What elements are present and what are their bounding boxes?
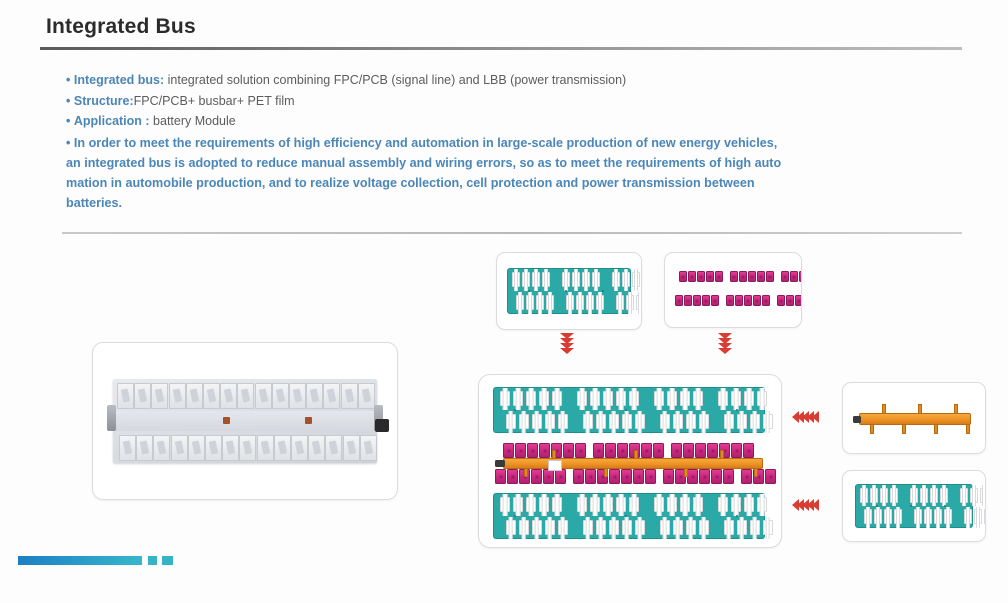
photo-contact-slot <box>241 388 251 402</box>
photo-terminal-left <box>107 405 116 431</box>
busbar-cell <box>645 469 656 484</box>
assembly-busbar-lbb-layer <box>489 443 775 485</box>
lbb-fin <box>934 424 938 434</box>
photo-contact-slot <box>172 388 182 402</box>
lbb-power-busbar-thumbnail <box>842 382 986 454</box>
fpc-contact-tab <box>864 509 872 524</box>
photo-contact-slot <box>243 440 253 454</box>
photo-cell-row-top <box>117 383 373 407</box>
fpc-contact-tab <box>545 414 555 430</box>
fpc-contact-tab <box>934 509 942 524</box>
busbar-cell <box>563 443 574 458</box>
fpc-contact-tab <box>910 488 918 503</box>
busbar-cell <box>641 443 652 458</box>
photo-contact-slot <box>157 440 167 454</box>
fpc-contact-tab <box>686 520 696 536</box>
photo-contact-slot <box>276 388 286 402</box>
photo-contact-slot <box>121 388 131 402</box>
title-underline <box>40 47 962 50</box>
busbar-cell <box>711 295 719 306</box>
busbar-cell <box>531 469 542 484</box>
photo-contact-cell <box>341 383 358 409</box>
fpc-tab-row-top <box>856 488 972 503</box>
fpc-contact-tab <box>693 391 703 407</box>
photo-contact-cell <box>186 383 203 409</box>
lbb-fin <box>552 450 556 459</box>
fpc-contact-tab <box>660 520 670 536</box>
photo-contact-cell <box>358 383 375 409</box>
arrow-down-icon <box>560 333 574 353</box>
fpc-board-graphic <box>507 268 631 314</box>
assembly-fpc-layer-top <box>493 387 765 433</box>
bullet-marker: • <box>66 73 70 87</box>
photo-contact-cell <box>360 435 377 461</box>
photo-contact-slot <box>327 388 337 402</box>
busbar-cell <box>617 443 628 458</box>
fpc-contact-tab <box>737 414 747 430</box>
photo-contact-slot <box>362 388 372 402</box>
fpc-contact-tab <box>513 391 523 407</box>
busbar-cell <box>744 295 752 306</box>
photo-contact-slot <box>344 388 354 402</box>
busbar-cell <box>757 271 765 282</box>
fpc-contact-tab <box>731 497 741 513</box>
photo-contact-cell <box>134 383 151 409</box>
description-paragraph: • In order to meet the requirements of h… <box>66 133 974 213</box>
fpc-tab-row-bottom <box>508 295 630 311</box>
fpc-contact-tab <box>970 488 978 503</box>
arrow-left-icon <box>792 411 817 423</box>
lbb-fin <box>882 404 886 414</box>
fpc-tab-row-bottom <box>856 509 972 524</box>
bullet-marker: • <box>66 94 70 108</box>
fpc-contact-tab <box>539 497 549 513</box>
fpc-contact-tab <box>500 391 510 407</box>
photo-contact-cell <box>323 383 340 409</box>
fpc-contact-tab <box>532 520 542 536</box>
integrated-bus-product-photo <box>92 342 398 500</box>
photo-contact-slot <box>310 388 320 402</box>
fpc-contact-tab <box>572 272 580 288</box>
fpc-contact-tab <box>763 414 773 430</box>
fpc-contact-tab <box>673 414 683 430</box>
busbar-gap <box>567 469 572 484</box>
busbar-cell <box>790 271 798 282</box>
busbar-cell <box>795 295 802 306</box>
fpc-solder-dot <box>736 515 738 517</box>
photo-contact-slot <box>329 440 339 454</box>
busbar-gap <box>587 443 592 458</box>
busbar-cell <box>515 443 526 458</box>
busbar-cell <box>653 443 664 458</box>
busbar-gap <box>720 295 725 306</box>
busbar-cell <box>687 469 698 484</box>
photo-contact-cell <box>257 435 274 461</box>
photo-board-midsection <box>113 411 377 431</box>
fpc-contact-tab <box>699 414 709 430</box>
photo-contact-cell <box>237 383 254 409</box>
paragraph-line: batteries. <box>66 193 974 213</box>
photo-cell-row-bottom <box>117 435 373 459</box>
photo-contact-slot <box>258 388 268 402</box>
photo-contact-cell <box>169 383 186 409</box>
fpc-contact-tab <box>582 272 590 288</box>
bullet-marker: • <box>66 114 70 128</box>
busbar-cell <box>605 443 616 458</box>
photo-contact-slot <box>123 440 133 454</box>
busbar-cell <box>495 469 506 484</box>
busbar-cell <box>675 295 683 306</box>
fpc-contact-tab <box>860 488 868 503</box>
lbb-bar-graphic <box>859 413 971 425</box>
fpc-contact-tab <box>660 414 670 430</box>
lbb-terminal-end <box>495 460 505 466</box>
busbar-gap <box>665 443 670 458</box>
busbar-cell <box>735 295 743 306</box>
photo-contact-slot <box>260 440 270 454</box>
busbar-cell <box>609 469 620 484</box>
busbar-cell <box>706 271 714 282</box>
busbar-cell <box>688 271 696 282</box>
busbar-cell <box>786 295 794 306</box>
busbar-cell <box>573 469 584 484</box>
fpc-contact-tab <box>699 520 709 536</box>
busbar-cell <box>633 469 644 484</box>
busbar-cell <box>593 443 604 458</box>
fpc-contact-tab <box>880 488 888 503</box>
busbar-cell <box>555 469 566 484</box>
fpc-contact-tab <box>984 509 986 524</box>
busbar-cell <box>765 469 776 484</box>
busbar-cell <box>684 295 692 306</box>
photo-contact-cell <box>171 435 188 461</box>
fpc-contact-tab <box>603 391 613 407</box>
busbar-cell <box>743 443 754 458</box>
fpc-contact-tab <box>874 509 882 524</box>
bullet-item-integrated-bus: • Integrated bus: integrated solution co… <box>66 70 966 91</box>
fpc-contact-tab <box>940 488 948 503</box>
photo-contact-slot <box>364 440 374 454</box>
fpc-contact-tab <box>590 497 600 513</box>
fpc-solder-dot <box>736 409 738 411</box>
photo-connector <box>375 419 389 432</box>
photo-contact-slot <box>140 440 150 454</box>
fpc-contact-tab <box>583 520 593 536</box>
busbar-cell <box>731 443 742 458</box>
fpc-contact-tab <box>583 414 593 430</box>
fpc-contact-tab <box>500 497 510 513</box>
busbar-cell <box>679 271 687 282</box>
fpc-solder-dot <box>565 290 567 292</box>
footer-accent-dash <box>162 556 173 565</box>
photo-contact-cell <box>151 383 168 409</box>
fpc-contact-tab <box>506 414 516 430</box>
fpc-contact-tab <box>744 497 754 513</box>
fpc-contact-tab <box>622 520 632 536</box>
bullet-value: FPC/PCB+ busbar+ PET film <box>134 94 295 108</box>
fpc-contact-tab <box>944 509 952 524</box>
photo-contact-slot <box>190 388 200 402</box>
busbar-cell <box>730 271 738 282</box>
lbb-fin <box>754 468 758 477</box>
photo-contact-slot <box>312 440 322 454</box>
busbar-cell <box>702 295 710 306</box>
fpc-contact-tab <box>693 497 703 513</box>
fpc-contact-tab <box>558 414 568 430</box>
fpc-contact-tab <box>545 520 555 536</box>
photo-contact-cell <box>291 435 308 461</box>
fpc-contact-tab <box>513 497 523 513</box>
fpc-contact-tab <box>532 414 542 430</box>
fpc-pcb-flex-circuit-thumbnail <box>842 470 986 542</box>
photo-contact-slot <box>138 388 148 402</box>
photo-contact-cell <box>239 435 256 461</box>
photo-contact-slot <box>278 440 288 454</box>
lbb-fin <box>954 404 958 414</box>
photo-contact-slot <box>192 440 202 454</box>
fpc-contact-tab <box>686 414 696 430</box>
fpc-contact-tab <box>632 272 640 288</box>
fpc-contact-tab <box>914 509 922 524</box>
busbar-strip-top <box>679 271 802 282</box>
fpc-contact-tab <box>924 509 932 524</box>
busbar-cell <box>739 271 747 282</box>
busbar-cell <box>707 443 718 458</box>
fpc-contact-tab <box>592 272 600 288</box>
bullet-item-application: • Application : battery Module <box>66 111 966 132</box>
photo-contact-cell <box>205 435 222 461</box>
fpc-contact-tab <box>680 497 690 513</box>
fpc-contact-tab <box>890 488 898 503</box>
photo-contact-cell <box>153 435 170 461</box>
fpc-tab-row-top <box>494 391 764 407</box>
busbar-cell <box>585 469 596 484</box>
fpc-contact-tab <box>750 414 760 430</box>
fpc-contact-tab <box>920 488 928 503</box>
slide-header: Integrated Bus <box>46 14 962 40</box>
fpc-contact-tab <box>654 497 664 513</box>
busbar-cell <box>539 443 550 458</box>
lbb-fin <box>966 424 970 434</box>
fpc-contact-tab <box>552 391 562 407</box>
fpc-contact-tab <box>596 414 606 430</box>
fpc-contact-tab <box>577 497 587 513</box>
photo-fuse-marker <box>223 417 230 424</box>
photo-contact-slot <box>295 440 305 454</box>
fpc-contact-tab <box>519 520 529 536</box>
content-divider <box>62 232 962 234</box>
fpc-contact-tab <box>603 497 613 513</box>
busbar-gap <box>724 271 729 282</box>
fpc-contact-tab <box>576 295 584 311</box>
lbb-terminal-end <box>853 416 861 423</box>
fpc-solder-dot <box>514 409 516 411</box>
fpc-contact-tab <box>536 295 544 311</box>
photo-contact-slot <box>207 388 217 402</box>
fpc-contact-tab <box>667 391 677 407</box>
busbar-cell <box>711 469 722 484</box>
fpc-contact-tab <box>526 497 536 513</box>
fpc-contact-tab <box>609 414 619 430</box>
photo-fuse-marker <box>305 417 312 424</box>
fpc-contact-tab <box>596 295 604 311</box>
busbar-cell <box>671 443 682 458</box>
fpc-contact-tab <box>757 391 767 407</box>
fpc-tab-row-bottom <box>494 520 764 536</box>
footer-accent-bar <box>18 556 142 565</box>
lbb-fin <box>918 404 922 414</box>
fpc-contact-tab <box>654 391 664 407</box>
fpc-contact-tab <box>558 520 568 536</box>
fpc-contact-tab <box>635 414 645 430</box>
lbb-fin <box>524 468 528 477</box>
busbar-cell <box>503 443 514 458</box>
fpc-contact-tab <box>562 272 570 288</box>
assembly-busbar-row-bottom <box>495 469 776 484</box>
busbar-cell <box>726 295 734 306</box>
photo-contact-cell <box>272 383 289 409</box>
integrated-bus-assembly-exploded-view <box>478 374 782 548</box>
fpc-contact-tab <box>622 272 630 288</box>
fpc-contact-tab <box>516 295 524 311</box>
photo-contact-slot <box>209 440 219 454</box>
page-title: Integrated Bus <box>46 14 962 40</box>
fpc-contact-tab <box>622 414 632 430</box>
busbar-cell <box>777 295 785 306</box>
photo-contact-cell <box>117 383 134 409</box>
fpc-contact-tab <box>763 520 773 536</box>
busbar-cell <box>715 271 723 282</box>
fpc-contact-tab <box>750 520 760 536</box>
fpc-contact-tab <box>635 520 645 536</box>
fpc-tab-row-bottom <box>494 414 764 430</box>
fpc-contact-tab <box>539 391 549 407</box>
fpc-tab-row-top <box>508 272 630 288</box>
busbar-gap <box>775 271 780 282</box>
assembly-busbar-row-top <box>503 443 754 458</box>
photo-contact-cell <box>203 383 220 409</box>
fpc-contact-tab <box>616 497 626 513</box>
bullet-key: Integrated bus: <box>74 73 164 87</box>
photo-contact-slot <box>155 388 165 402</box>
fpc-solder-dot <box>602 290 604 292</box>
fpc-contact-tab <box>616 391 626 407</box>
fpc-contact-tab <box>626 295 634 311</box>
fpc-contact-tab <box>974 509 982 524</box>
busbar-gap <box>657 469 662 484</box>
fpc-solder-dot <box>514 515 516 517</box>
fpc-contact-tab <box>757 497 767 513</box>
busbar-cell <box>799 271 802 282</box>
fpc-contact-tab <box>629 391 639 407</box>
busbar-cell <box>766 271 774 282</box>
fpc-contact-tab <box>506 520 516 536</box>
fpc-contact-tab <box>680 391 690 407</box>
busbar-cell <box>575 443 586 458</box>
fpc-contact-tab <box>542 272 550 288</box>
fpc-contact-tab <box>629 497 639 513</box>
arrow-down-icon <box>718 333 732 353</box>
busbar-cell <box>697 271 705 282</box>
photo-contact-cell <box>119 435 136 461</box>
bullet-key: Application : <box>74 114 150 128</box>
photo-contact-slot <box>226 440 236 454</box>
fpc-contact-tab <box>718 391 728 407</box>
busbar-cell <box>753 295 761 306</box>
photo-contact-cell <box>343 435 360 461</box>
fpc-contact-tab <box>519 414 529 430</box>
fpc-contact-tab <box>512 272 520 288</box>
fpc-tab-row-top <box>494 497 764 513</box>
busbar-cell <box>695 443 706 458</box>
lbb-fin <box>604 468 608 477</box>
paragraph-line: mation in automobile production, and to … <box>66 173 974 193</box>
busbar-gap <box>771 295 776 306</box>
busbar-cell <box>781 271 789 282</box>
fpc-contact-tab <box>930 488 938 503</box>
photo-contact-cell <box>308 435 325 461</box>
photo-contact-cell <box>220 383 237 409</box>
fpc-solder-dot <box>910 505 912 507</box>
busbar-cell <box>621 469 632 484</box>
fpc-contact-tab <box>724 520 734 536</box>
fpc-contact-tab <box>577 391 587 407</box>
fpc-contact-tab <box>546 295 554 311</box>
fpc-board-graphic <box>855 484 973 528</box>
busbar-cell <box>693 295 701 306</box>
busbar-cell <box>543 469 554 484</box>
busbar-gap <box>735 469 740 484</box>
busbar-cell <box>699 469 710 484</box>
photo-contact-cell <box>289 383 306 409</box>
slide-root: Integrated Bus • Integrated bus: integra… <box>0 0 1008 603</box>
fpc-contact-tab <box>586 295 594 311</box>
fpc-contact-tab <box>744 391 754 407</box>
fpc-contact-tab <box>724 414 734 430</box>
lbb-fin <box>684 468 688 477</box>
busbar-cell <box>723 469 734 484</box>
lbb-fin <box>870 424 874 434</box>
busbar-cell <box>507 469 518 484</box>
fpc-contact-tab <box>667 497 677 513</box>
fpc-contact-tab <box>590 391 600 407</box>
busbar-strip-bottom <box>675 295 802 306</box>
fpc-contact-tab <box>526 295 534 311</box>
photo-contact-slot <box>174 440 184 454</box>
lbb-fin <box>720 450 724 459</box>
bullet-value: battery Module <box>150 114 236 128</box>
photo-contact-cell <box>222 435 239 461</box>
paragraph-line: • In order to meet the requirements of h… <box>66 133 974 153</box>
bullet-item-structure: • Structure:FPC/PCB+ busbar+ PET film <box>66 91 966 112</box>
photo-contact-cell <box>136 435 153 461</box>
busbar-cell <box>663 469 674 484</box>
fpc-contact-tab <box>894 509 902 524</box>
fpc-contact-tab <box>522 272 530 288</box>
fpc-contact-tab <box>526 391 536 407</box>
fpc-contact-tab <box>552 497 562 513</box>
fpc-contact-tab <box>612 272 620 288</box>
busbar-component-thumbnail <box>664 252 802 328</box>
fpc-pcb-component-thumbnail <box>496 252 642 330</box>
product-photo-board <box>113 379 377 463</box>
photo-contact-slot <box>346 440 356 454</box>
paragraph-line: an integrated bus is adopted to reduce m… <box>66 153 974 173</box>
photo-contact-cell <box>306 383 323 409</box>
fpc-contact-tab <box>609 520 619 536</box>
photo-contact-slot <box>224 388 234 402</box>
fpc-contact-tab <box>980 488 986 503</box>
